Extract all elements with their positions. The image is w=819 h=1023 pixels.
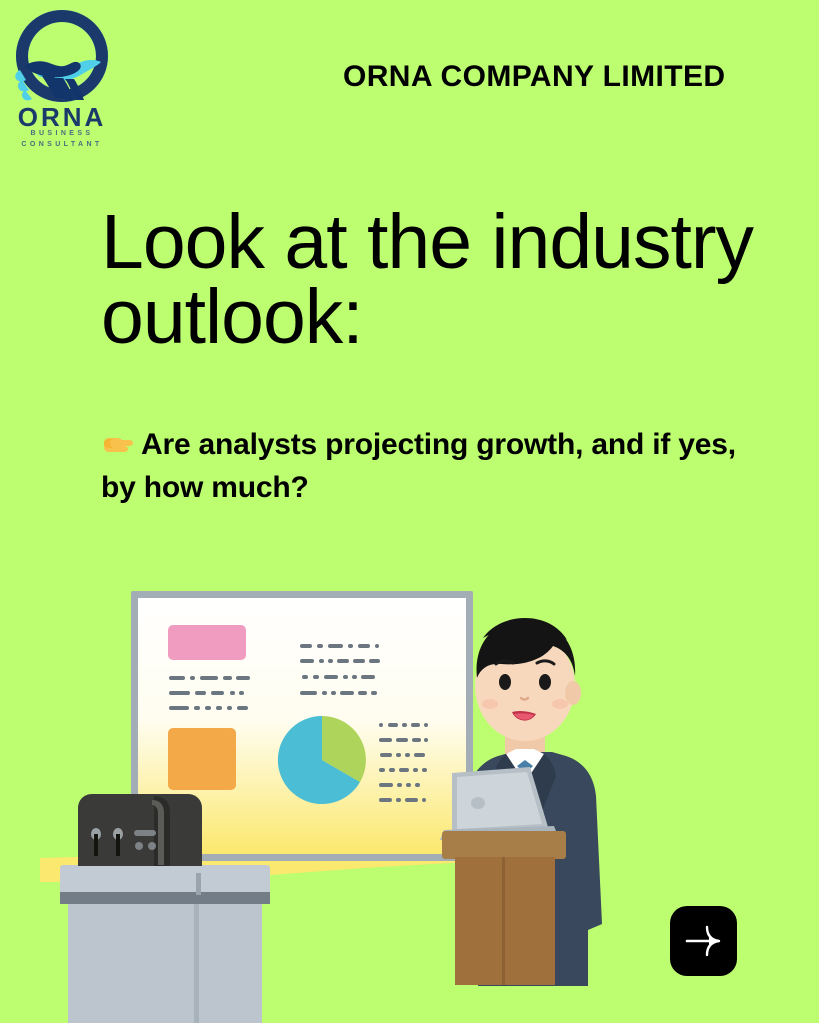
slide-canvas: ORNA BUSINESS CONSULTANT ORNA COMPANY LI… (0, 0, 819, 1023)
company-name-header: ORNA COMPANY LIMITED (343, 60, 725, 94)
subheading-block: Are analysts projecting growth, and if y… (101, 424, 741, 509)
screen-orange-block (168, 728, 236, 790)
arrow-right-icon (683, 924, 725, 958)
projector-table (60, 865, 270, 1023)
projector-device (78, 794, 202, 866)
podium (442, 831, 566, 985)
next-slide-button[interactable] (670, 906, 737, 976)
subheading-text: Are analysts projecting growth, and if y… (101, 428, 736, 504)
screen-pink-block (168, 625, 246, 660)
page-title: Look at the industry outlook: (101, 205, 761, 354)
logo-tagline-line1: BUSINESS (6, 130, 118, 137)
logo-wordmark: ORNA (6, 104, 118, 130)
handshake-circle-icon (6, 4, 118, 109)
screen-pie-chart (278, 716, 366, 804)
brand-logo[interactable]: ORNA BUSINESS CONSULTANT (6, 4, 118, 154)
pointing-right-hand-emoji (101, 434, 135, 458)
logo-tagline-line2: CONSULTANT (6, 141, 118, 148)
